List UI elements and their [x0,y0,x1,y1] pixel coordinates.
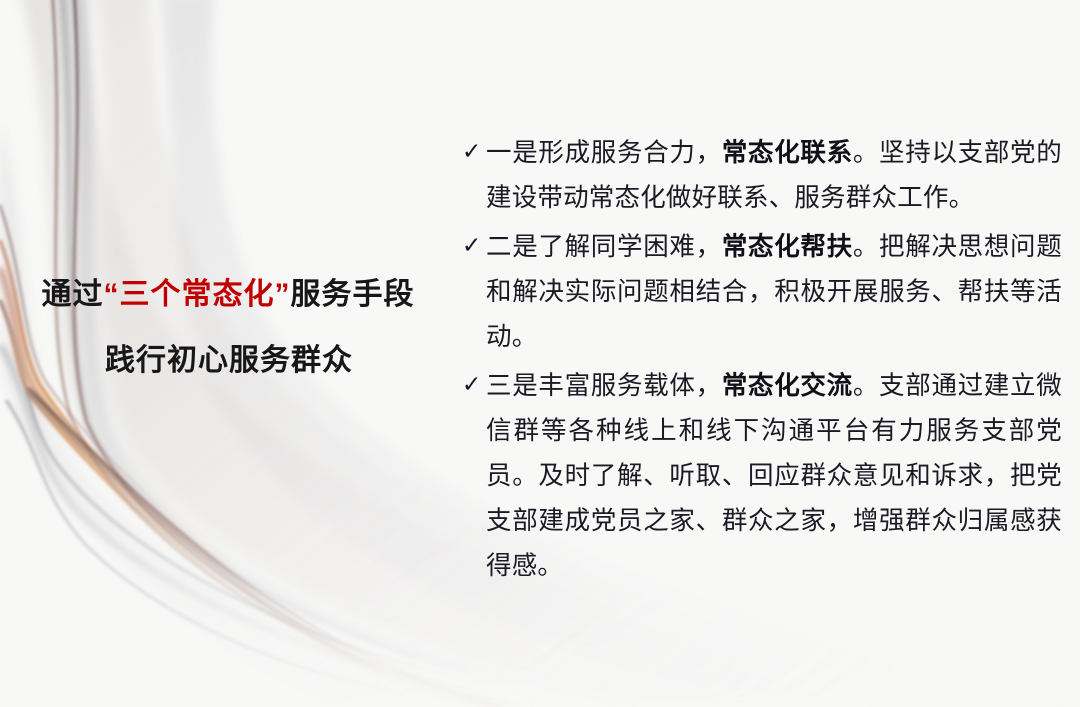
bullet-tail-text: 。支部通过建立微信群等各种线上和线下沟通平台有力服务支部党员。及时了解、听取、回… [486,371,1062,580]
title-line-2: 践行初心服务群众 [0,328,452,394]
bullet-emphasis-text: 常态化帮扶 [722,232,853,261]
slide-canvas: 通过“三个常态化”服务手段 践行初心服务群众 ✓一是形成服务合力，常态化联系。坚… [0,0,1080,707]
checkmark-icon: ✓ [462,130,481,175]
bullet-emphasis-text: 常态化联系 [722,138,853,167]
title-suffix: 服务手段 [291,278,415,311]
list-item: ✓三是丰富服务载体，常态化交流。支部通过建立微信群等各种线上和线下沟通平台有力服… [462,363,1062,588]
title-prefix: 通过 [42,278,104,311]
list-item: ✓一是形成服务合力，常态化联系。坚持以支部党的建设带动常态化做好联系、服务群众工… [462,130,1062,220]
bullet-lead-text: 一是形成服务合力， [486,138,722,167]
title-quoted-emphasis: “三个常态化” [104,278,291,311]
bullet-lead-text: 三是丰富服务载体， [486,371,722,400]
body-bullet-list: ✓一是形成服务合力，常态化联系。坚持以支部党的建设带动常态化做好联系、服务群众工… [462,130,1062,588]
checkmark-icon: ✓ [462,363,481,408]
checkmark-icon: ✓ [462,224,481,269]
bullet-emphasis-text: 常态化交流 [722,371,853,400]
title-line-1: 通过“三个常态化”服务手段 [0,262,452,328]
list-item: ✓二是了解同学困难，常态化帮扶。把解决思想问题和解决实际问题相结合，积极开展服务… [462,224,1062,359]
bullet-lead-text: 二是了解同学困难， [486,232,722,261]
slide-title: 通过“三个常态化”服务手段 践行初心服务群众 [0,262,452,394]
